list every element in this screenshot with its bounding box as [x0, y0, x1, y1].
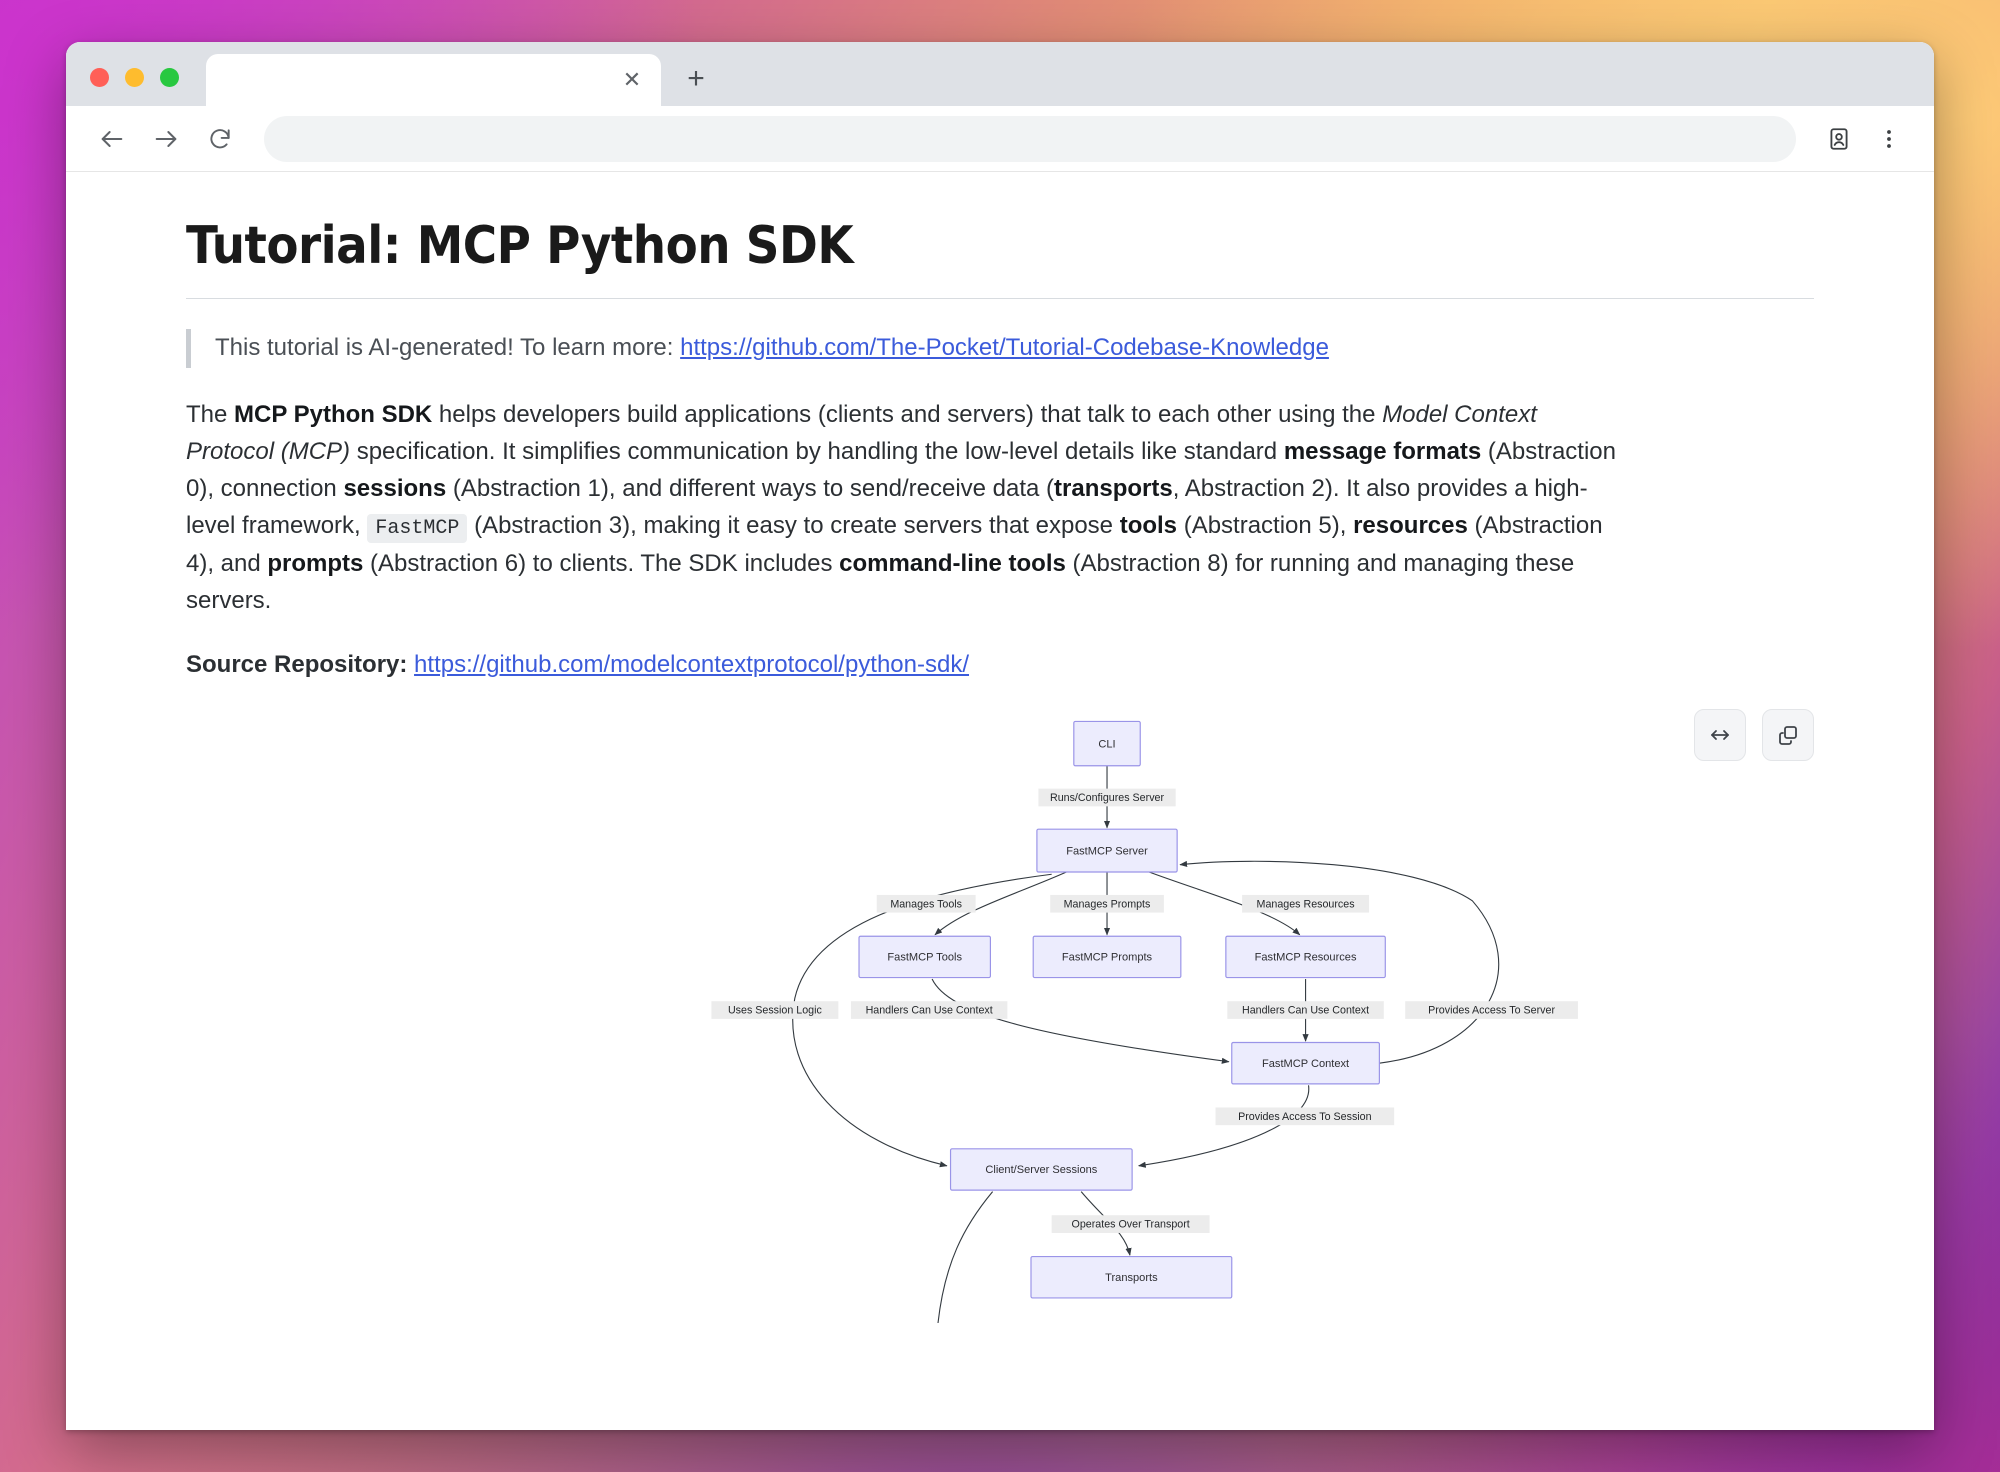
- node-label: Transports: [1105, 1272, 1158, 1284]
- edge-label-manages-resources: Manages Resources: [1242, 895, 1369, 913]
- text-strong: message formats: [1284, 438, 1481, 465]
- source-repository-link[interactable]: https://github.com/modelcontextprotocol/…: [414, 651, 969, 678]
- text-strong: transports: [1054, 475, 1173, 502]
- svg-text:Manages Prompts: Manages Prompts: [1064, 898, 1151, 910]
- copy-button[interactable]: [1762, 709, 1814, 761]
- page-title: Tutorial: MCP Python SDK: [186, 216, 1814, 299]
- window-controls: [90, 68, 179, 87]
- tutorial-repo-link[interactable]: https://github.com/The-Pocket/Tutorial-C…: [680, 334, 1329, 361]
- browser-tabstrip: ✕ +: [66, 42, 1934, 106]
- node-label: FastMCP Resources: [1255, 951, 1357, 963]
- fit-width-button[interactable]: [1694, 709, 1746, 761]
- text-strong: command-line tools: [839, 550, 1066, 577]
- edge-label-handlers-can-use-context-resources: Handlers Can Use Context: [1227, 1001, 1383, 1019]
- node-label: FastMCP Prompts: [1062, 951, 1153, 963]
- browser-menu-icon[interactable]: [1866, 116, 1912, 162]
- edge-sessions-left: [938, 1192, 993, 1323]
- node-fastmcp-server[interactable]: FastMCP Server: [1037, 829, 1177, 872]
- text-run: The: [186, 401, 234, 428]
- maximize-window-button[interactable]: [160, 68, 179, 87]
- text-strong: tools: [1120, 512, 1177, 539]
- toolbar-right-group: [1816, 116, 1912, 162]
- edge-server-sessions: [793, 874, 1052, 1166]
- minimize-window-button[interactable]: [125, 68, 144, 87]
- back-icon[interactable]: [88, 115, 136, 163]
- svg-text:Operates Over Transport: Operates Over Transport: [1072, 1219, 1190, 1231]
- note-text: This tutorial is AI-generated! To learn …: [215, 334, 680, 361]
- profile-icon[interactable]: [1816, 116, 1862, 162]
- edge-context-sessions: [1139, 1085, 1309, 1165]
- address-bar[interactable]: [264, 116, 1796, 162]
- node-label: CLI: [1098, 738, 1115, 750]
- browser-tab[interactable]: ✕: [206, 54, 661, 106]
- text-run: specification. It simplifies communicati…: [350, 438, 1284, 465]
- node-fastmcp-resources[interactable]: FastMCP Resources: [1226, 936, 1385, 977]
- edge-label-provides-access-to-server: Provides Access To Server: [1405, 1001, 1578, 1019]
- page-viewport[interactable]: Tutorial: MCP Python SDK This tutorial i…: [66, 172, 1934, 1430]
- text-run: (Abstraction 1), and different ways to s…: [446, 475, 1054, 502]
- source-repository-line: Source Repository: https://github.com/mo…: [186, 651, 1814, 679]
- ai-generated-note: This tutorial is AI-generated! To learn …: [186, 329, 1814, 368]
- forward-icon[interactable]: [142, 115, 190, 163]
- edge-label-provides-access-to-session: Provides Access To Session: [1216, 1107, 1395, 1125]
- text-strong: sessions: [343, 475, 446, 502]
- svg-text:Runs/Configures Server: Runs/Configures Server: [1050, 792, 1164, 804]
- browser-toolbar: [66, 106, 1934, 172]
- node-fastmcp-tools[interactable]: FastMCP Tools: [859, 936, 990, 977]
- node-label: FastMCP Server: [1066, 845, 1148, 857]
- node-fastmcp-context[interactable]: FastMCP Context: [1232, 1042, 1380, 1083]
- node-label: FastMCP Tools: [887, 951, 962, 963]
- edge-tools-context: [932, 979, 1229, 1062]
- node-label: Client/Server Sessions: [985, 1164, 1097, 1176]
- inline-code-fastmcp: FastMCP: [367, 514, 467, 543]
- new-tab-button[interactable]: +: [675, 58, 717, 100]
- text-strong: resources: [1353, 512, 1468, 539]
- text-run: (Abstraction 6) to clients. The SDK incl…: [363, 550, 839, 577]
- diagram-toolbar: [1694, 709, 1814, 761]
- edge-label-runs-configures-server: Runs/Configures Server: [1038, 789, 1175, 807]
- node-fastmcp-prompts[interactable]: FastMCP Prompts: [1033, 936, 1181, 977]
- intro-paragraph: The MCP Python SDK helps developers buil…: [186, 396, 1626, 619]
- text-strong: MCP Python SDK: [234, 401, 432, 428]
- edge-label-uses-session-logic: Uses Session Logic: [711, 1001, 838, 1019]
- node-transports[interactable]: Transports: [1031, 1256, 1232, 1297]
- source-repository-label: Source Repository:: [186, 651, 414, 678]
- edge-label-manages-tools: Manages Tools: [877, 895, 976, 913]
- text-run: helps developers build applications (cli…: [432, 401, 1382, 428]
- svg-text:Manages Resources: Manages Resources: [1257, 898, 1355, 910]
- close-tab-icon[interactable]: ✕: [617, 65, 647, 95]
- document-body: Tutorial: MCP Python SDK This tutorial i…: [66, 172, 1934, 1343]
- edge-label-manages-prompts: Manages Prompts: [1050, 895, 1164, 913]
- svg-text:Provides Access To Session: Provides Access To Session: [1238, 1111, 1372, 1123]
- svg-text:Handlers Can Use Context: Handlers Can Use Context: [1242, 1005, 1369, 1017]
- node-label: FastMCP Context: [1262, 1058, 1349, 1070]
- node-client-server-sessions[interactable]: Client/Server Sessions: [951, 1149, 1133, 1190]
- edge-label-operates-over-transport: Operates Over Transport: [1052, 1215, 1210, 1233]
- text-run: (Abstraction 3), making it easy to creat…: [467, 512, 1119, 539]
- svg-text:Uses Session Logic: Uses Session Logic: [728, 1005, 823, 1017]
- flowchart-diagram[interactable]: CLI FastMCP Server FastMCP Tools Fa: [186, 703, 1814, 1323]
- text-strong: prompts: [267, 550, 363, 577]
- node-cli[interactable]: CLI: [1074, 721, 1140, 765]
- svg-text:Provides Access To Server: Provides Access To Server: [1428, 1005, 1555, 1017]
- reload-icon[interactable]: [196, 115, 244, 163]
- diagram-container: CLI FastMCP Server FastMCP Tools Fa: [186, 703, 1814, 1343]
- svg-text:Handlers Can Use Context: Handlers Can Use Context: [866, 1005, 993, 1017]
- svg-text:Manages Tools: Manages Tools: [890, 898, 962, 910]
- text-run: (Abstraction 5),: [1177, 512, 1353, 539]
- browser-window: ✕ + Tutorial: MCP Python SDK Th: [66, 42, 1934, 1430]
- edge-label-handlers-can-use-context-tools: Handlers Can Use Context: [851, 1001, 1007, 1019]
- close-window-button[interactable]: [90, 68, 109, 87]
